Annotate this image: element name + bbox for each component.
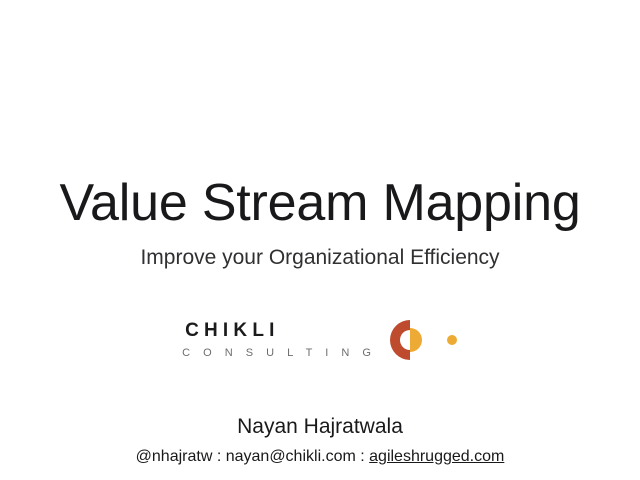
small-dot-mark xyxy=(446,334,458,346)
logo-company-tagline: C O N S U L T I N G xyxy=(182,348,376,359)
logo-block: CHIKLI C O N S U L T I N G xyxy=(0,318,640,362)
website-link[interactable]: agileshrugged.com xyxy=(369,448,504,465)
contact-separator-2: : xyxy=(356,448,369,465)
title-block: Value Stream Mapping Improve your Organi… xyxy=(0,176,640,270)
footer-block: Nayan Hajratwala @nhajratw : nayan@chikl… xyxy=(0,414,640,466)
logo: CHIKLI C O N S U L T I N G xyxy=(182,318,458,362)
filled-circle-mark xyxy=(410,328,422,352)
author-name: Nayan Hajratwala xyxy=(0,414,640,439)
email-address: nayan@chikli.com xyxy=(226,448,356,465)
page-title: Value Stream Mapping xyxy=(0,176,640,231)
c-ring-mark xyxy=(390,320,410,360)
contact-line: @nhajratw : nayan@chikli.com : agileshru… xyxy=(0,447,640,466)
logo-dot-wrap xyxy=(446,334,458,346)
logo-mark-graphic xyxy=(390,318,430,362)
logo-company-name: CHIKLI xyxy=(182,321,280,340)
page-subtitle: Improve your Organizational Efficiency xyxy=(0,245,640,270)
slide-canvas: Value Stream Mapping Improve your Organi… xyxy=(0,0,640,480)
contact-separator-1: : xyxy=(212,448,225,465)
logo-wordmark: CHIKLI C O N S U L T I N G xyxy=(182,321,376,359)
twitter-handle: @nhajratw xyxy=(136,448,213,465)
